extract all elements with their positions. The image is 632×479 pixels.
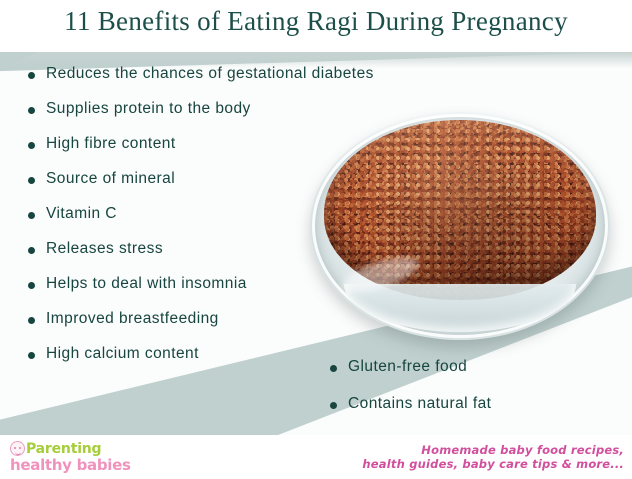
list-item-label: Releases stress: [46, 239, 163, 259]
brand-logo[interactable]: Parenting healthy babies: [10, 441, 131, 473]
ragi-bowl-photo: [300, 100, 620, 350]
list-item: Source of mineral: [28, 169, 328, 189]
bullet-icon: [28, 72, 35, 79]
benefits-list-right: Gluten-free food Contains natural fat: [330, 357, 610, 431]
page-title: 11 Benefits of Eating Ragi During Pregna…: [0, 6, 632, 37]
list-item-label: Gluten-free food: [348, 357, 467, 377]
list-item: Supplies protein to the body: [28, 99, 328, 119]
list-item-label: Vitamin C: [46, 204, 117, 224]
list-item: Reduces the chances of gestational diabe…: [28, 64, 328, 84]
list-item-label: Contains natural fat: [348, 394, 491, 414]
bullet-icon: [28, 317, 35, 324]
bullet-icon: [28, 107, 35, 114]
list-item-label: Supplies protein to the body: [46, 99, 251, 119]
brand-name-part-2: healthy babies: [10, 458, 131, 473]
bullet-icon: [28, 352, 35, 359]
list-item: High calcium content: [28, 344, 328, 364]
bullet-icon: [330, 365, 337, 372]
bullet-icon: [330, 402, 337, 409]
glass-bowl: [310, 112, 610, 340]
footer-bar: Parenting healthy babies Homemade baby f…: [0, 435, 632, 479]
footer-tagline: Homemade baby food recipes, health guide…: [362, 443, 624, 471]
benefits-list-left: Reduces the chances of gestational diabe…: [28, 64, 328, 379]
infographic-poster: 11 Benefits of Eating Ragi During Pregna…: [0, 0, 632, 479]
bullet-icon: [28, 142, 35, 149]
bullet-icon: [28, 282, 35, 289]
brand-name-part-1: Parenting: [26, 442, 101, 456]
list-item-label: High fibre content: [46, 134, 176, 154]
list-item: Releases stress: [28, 239, 328, 259]
list-item-label: Improved breastfeeding: [46, 309, 219, 329]
list-item-label: Source of mineral: [46, 169, 175, 189]
list-item: Vitamin C: [28, 204, 328, 224]
list-item: Gluten-free food: [330, 357, 610, 377]
bullet-icon: [28, 177, 35, 184]
list-item-label: Helps to deal with insomnia: [46, 274, 247, 294]
brand-logo-row-top: Parenting: [10, 441, 131, 456]
footer-tagline-line-1: Homemade baby food recipes,: [362, 443, 624, 457]
footer-tagline-line-2: health guides, baby care tips & more...: [362, 457, 624, 471]
list-item: High fibre content: [28, 134, 328, 154]
bullet-icon: [28, 247, 35, 254]
bowl-glass-base: [344, 284, 576, 332]
baby-face-icon: [10, 441, 25, 456]
bullet-icon: [28, 212, 35, 219]
list-item: Helps to deal with insomnia: [28, 274, 328, 294]
list-item: Contains natural fat: [330, 394, 610, 414]
list-item-label: High calcium content: [46, 344, 199, 364]
list-item: Improved breastfeeding: [28, 309, 328, 329]
list-item-label: Reduces the chances of gestational diabe…: [46, 64, 374, 84]
